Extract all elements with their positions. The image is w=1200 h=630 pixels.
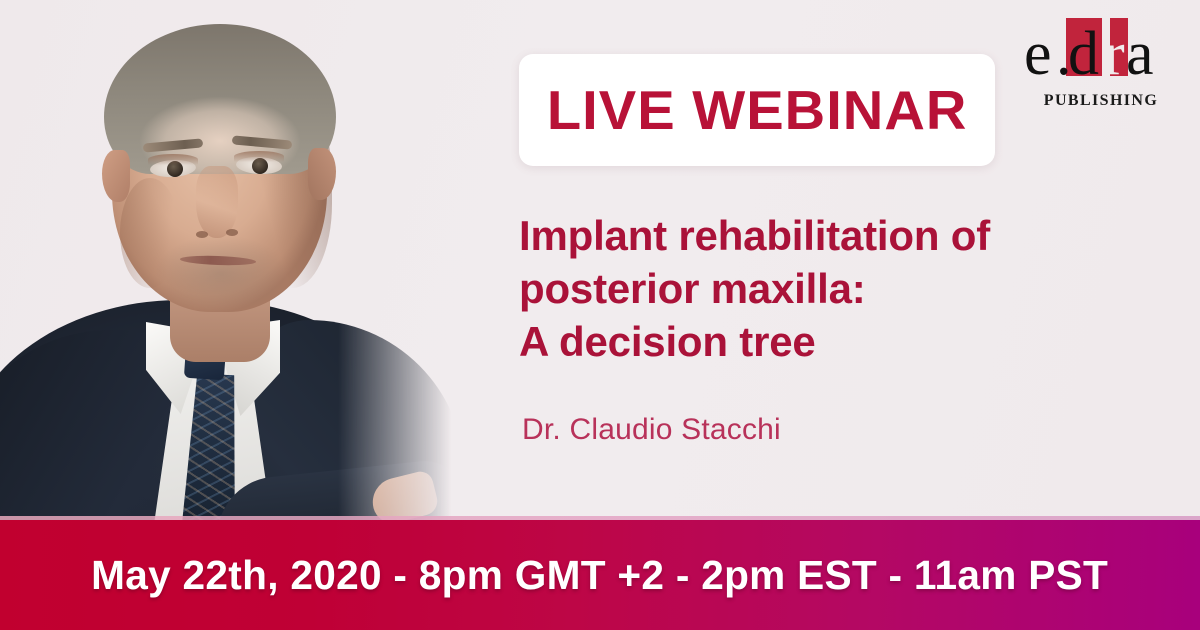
speaker-portrait-photo [0, 0, 470, 530]
webinar-poster: LIVE WEBINAR e . d r a PUBLISHING Implan… [0, 0, 1200, 630]
svg-text:r: r [1104, 20, 1125, 88]
live-webinar-badge: LIVE WEBINAR [519, 54, 995, 166]
headline-line-2: posterior maxilla: [519, 263, 1119, 316]
page-title: Implant rehabilitation of posterior maxi… [519, 210, 1119, 369]
logo-caption-publishing: PUBLISHING [1022, 92, 1180, 110]
eyelid-right [234, 151, 284, 162]
ear-left [102, 150, 130, 202]
headline-line-3: A decision tree [519, 316, 1119, 369]
svg-text:d: d [1068, 20, 1099, 88]
eyelid-left [148, 154, 198, 165]
hair [104, 24, 336, 174]
svg-text:a: a [1126, 20, 1154, 88]
schedule-banner: May 22th, 2020 - 8pm GMT +2 - 2pm EST - … [0, 520, 1200, 630]
headline-line-1: Implant rehabilitation of [519, 210, 1119, 263]
beard-stubble [132, 218, 310, 314]
edra-wordmark-icon: e . d r a [1022, 16, 1180, 92]
live-webinar-label: LIVE WEBINAR [547, 78, 968, 142]
speaker-name: Dr. Claudio Stacchi [522, 413, 781, 447]
schedule-banner-text: May 22th, 2020 - 8pm GMT +2 - 2pm EST - … [92, 552, 1109, 599]
portrait-image [0, 0, 470, 530]
edra-publishing-logo: e . d r a PUBLISHING [1022, 16, 1180, 122]
svg-text:e: e [1024, 20, 1052, 88]
